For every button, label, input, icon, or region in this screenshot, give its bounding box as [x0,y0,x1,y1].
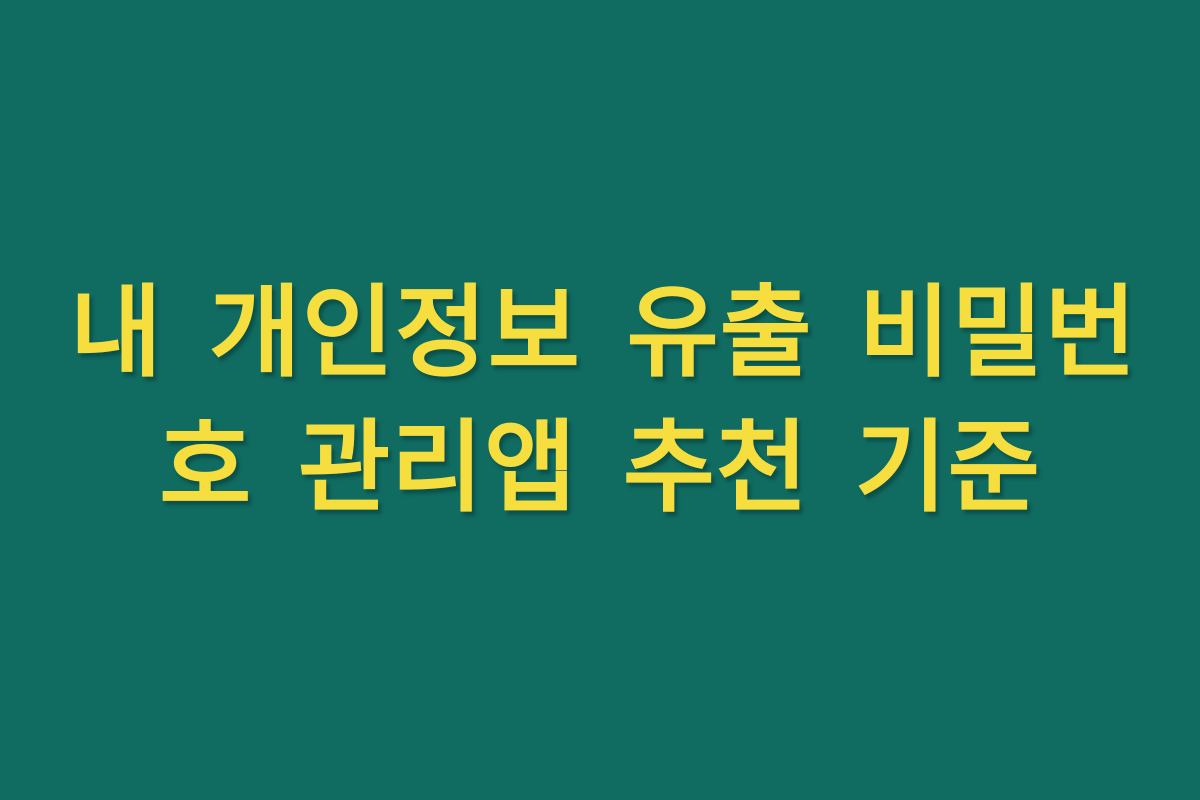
page-title-line-1: 내 개인정보 유출 비밀번 [70,265,1130,400]
title-card: 내 개인정보 유출 비밀번 호 관리앱 추천 기준 [0,0,1200,800]
page-title-line-2: 호 관리앱 추천 기준 [70,400,1130,535]
page-title: 내 개인정보 유출 비밀번 호 관리앱 추천 기준 [70,265,1130,535]
